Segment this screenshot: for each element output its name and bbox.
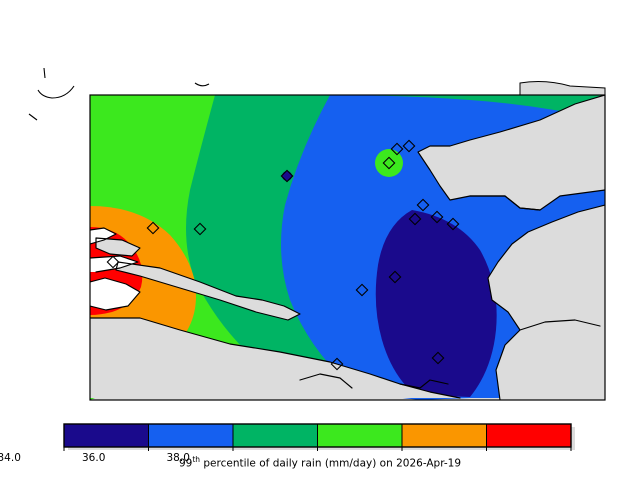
caption-rest: percentile of daily rain (mm/day) on 202… xyxy=(200,458,461,470)
colorbar-band-34.0-36.0 xyxy=(318,424,403,447)
colorbar-caption: 99th percentile of daily rain (mm/day) o… xyxy=(0,455,640,470)
colorbar-bands xyxy=(64,424,571,447)
map-svg xyxy=(0,0,640,420)
caption-superscript: th xyxy=(192,455,200,464)
colorbar-svg xyxy=(0,420,640,480)
band-28-30-bullseye xyxy=(282,171,292,181)
map-content xyxy=(90,95,605,400)
colorbar-band-28.0-30.0 xyxy=(64,424,149,447)
figure-root: VictoriaWeather.ca -- Year Total Daily R… xyxy=(0,0,640,480)
colorbar-band-32.0-34.0 xyxy=(233,424,318,447)
map-panel xyxy=(0,0,640,420)
colorbar-band-30.0-32.0 xyxy=(149,424,234,447)
colorbar-panel: 28.030.032.034.036.038.040.0 xyxy=(0,420,640,480)
caption-prefix: 99 xyxy=(179,458,192,470)
colorbar-band-38.0-40.0 xyxy=(487,424,572,447)
colorbar-band-36.0-38.0 xyxy=(402,424,487,447)
